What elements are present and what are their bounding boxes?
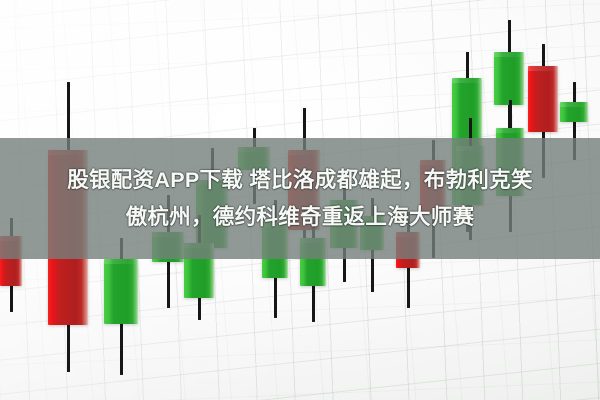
candle-body-highlight [528,66,558,71]
candle-body [104,259,138,324]
candle-body [560,102,588,122]
candle-body-highlight [560,102,588,107]
title-line-2: 傲杭州，德约科维奇重返上海大师赛 [6,199,594,236]
banner-image: 股银配资APP下载 塔比洛成都雄起，布勃利克笑 傲杭州，德约科维奇重返上海大师赛 [0,0,600,400]
candle-body-highlight [496,128,524,133]
headline-overlay-band: 股银配资APP下载 塔比洛成都雄起，布勃利克笑 傲杭州，德约科维奇重返上海大师赛 [0,138,600,259]
candle-body-highlight [104,259,138,264]
page-title: 股银配资APP下载 塔比洛成都雄起，布勃利克笑 傲杭州，德约科维奇重返上海大师赛 [0,162,600,236]
candle-body [494,52,524,105]
candle-body-highlight [452,78,482,83]
candle-body-highlight [494,52,524,57]
title-line-1: 股银配资APP下载 塔比洛成都雄起，布勃利克笑 [6,162,594,199]
candle-body [528,66,558,132]
